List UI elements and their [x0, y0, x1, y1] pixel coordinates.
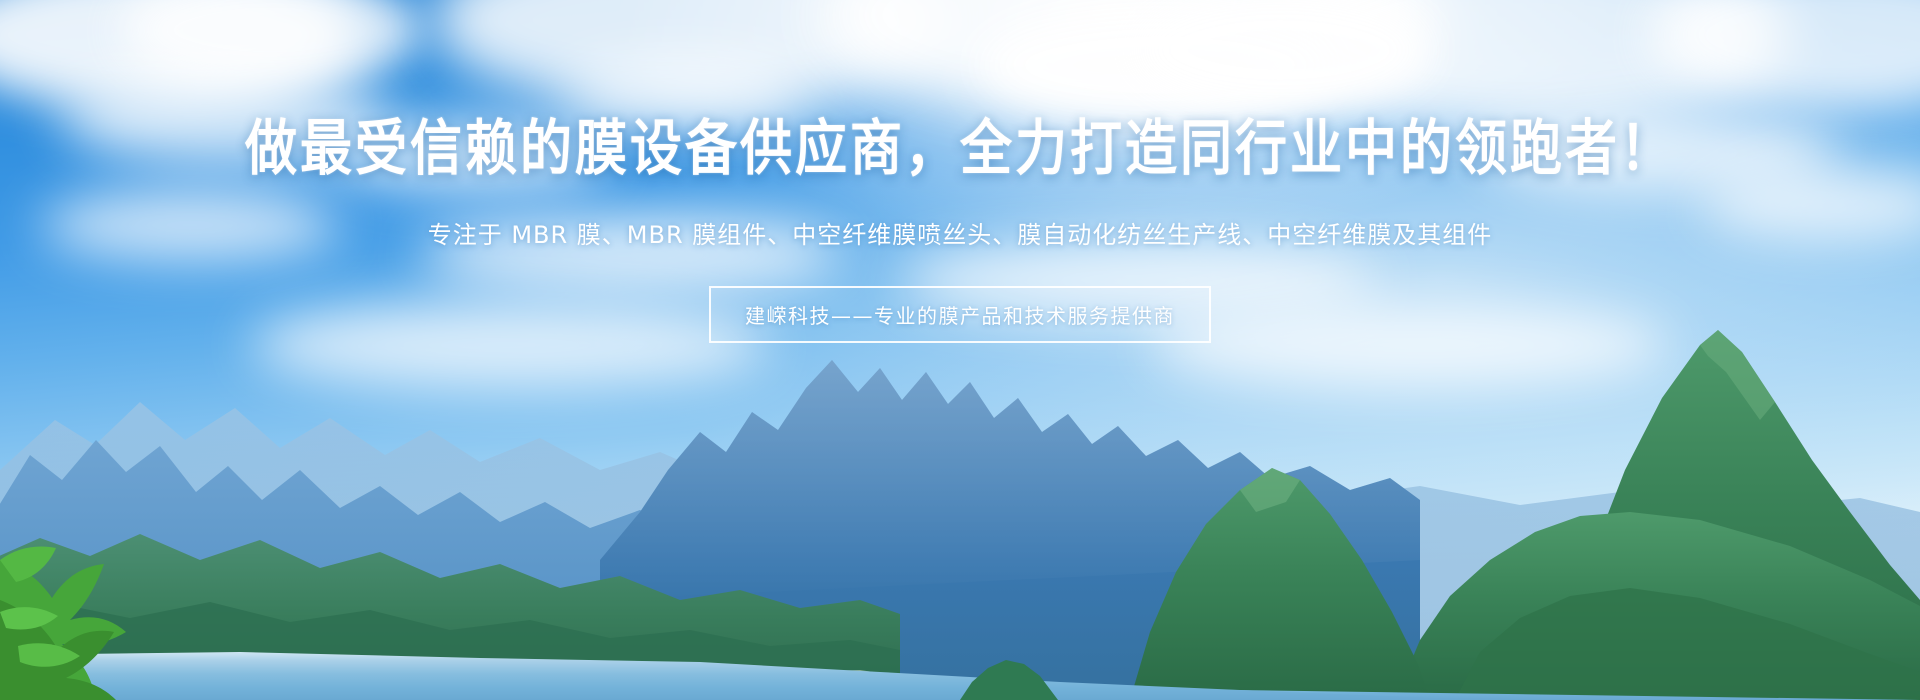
- hero-banner: 做最受信赖的膜设备供应商，全力打造同行业中的领跑者！ 专注于 MBR 膜、MBR…: [0, 0, 1920, 700]
- landscape-illustration: [0, 0, 1920, 700]
